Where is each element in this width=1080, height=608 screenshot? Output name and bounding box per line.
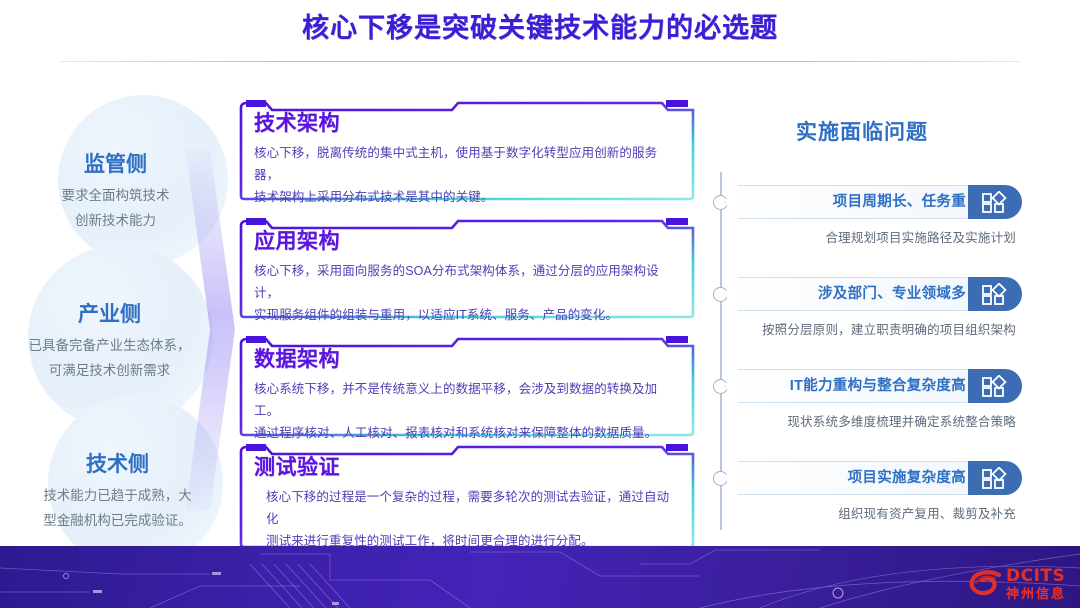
shapes-grid-icon <box>968 185 1022 219</box>
issue-subtext: 组织现有资产复用、裁剪及补充 <box>724 503 1016 522</box>
right-column: 实施面临问题 项目周期长、任务重 合理规划项目实施路径及实施计划 <box>702 100 1080 550</box>
side-item-desc-line2: 创新技术能力 <box>8 208 223 233</box>
side-item-industry: 产业侧 已具备完备产业生态体系， 可满足技术创新需求 <box>2 300 217 383</box>
issue-pill[interactable]: IT能力重构与整合复杂度高 <box>724 369 1022 403</box>
side-item-label: 产业侧 <box>2 300 217 330</box>
logo-en: DCITS <box>1006 568 1066 585</box>
side-item-desc-line1: 已具备完备产业生态体系， <box>2 333 217 358</box>
card-application-architecture: 应用架构 核心下移，采用面向服务的SOA分布式架构体系，通过分层的应用架构设计，… <box>238 216 696 320</box>
right-column-heading: 实施面临问题 <box>702 116 1022 146</box>
footer-band: DCITS 神州信息 <box>0 546 1080 608</box>
card-test-verification: 测试验证 核心下移的过程是一个复杂的过程，需要多轮次的测试去验证，通过自动化 测… <box>238 442 696 550</box>
side-item-desc-line2: 可满足技术创新需求 <box>2 358 217 383</box>
logo-text-block: DCITS 神州信息 <box>1006 568 1066 600</box>
issue-item-1[interactable]: 项目周期长、任务重 合理规划项目实施路径及实施计划 <box>724 185 1034 246</box>
card-text-line1: 核心下移，脱离传统的集中式主机，使用基于数字化转型应用创新的服务器， <box>254 142 680 186</box>
card-title: 技术架构 <box>254 110 680 138</box>
issue-label: 项目周期长、任务重 <box>833 185 966 219</box>
shapes-grid-icon <box>968 369 1022 403</box>
issue-label: IT能力重构与整合复杂度高 <box>790 369 966 403</box>
issue-label: 涉及部门、专业领域多 <box>818 277 966 311</box>
issue-subtext: 现状系统多维度梳理并确定系统整合策略 <box>724 411 1016 430</box>
company-logo: DCITS 神州信息 <box>969 568 1066 600</box>
issue-pill[interactable]: 涉及部门、专业领域多 <box>724 277 1022 311</box>
shapes-grid-icon <box>968 461 1022 495</box>
card-tech-architecture: 技术架构 核心下移，脱离传统的集中式主机，使用基于数字化转型应用创新的服务器， … <box>238 98 696 202</box>
issue-item-4[interactable]: 项目实施复杂度高 组织现有资产复用、裁剪及补充 <box>724 461 1034 522</box>
card-data-architecture: 数据架构 核心系统下移，并不是传统意义上的数据平移，会涉及到数据的转换及加工。 … <box>238 334 696 438</box>
shapes-grid-icon <box>968 277 1022 311</box>
page-title: 核心下移是突破关键技术能力的必选题 <box>0 8 1080 48</box>
title-divider <box>60 61 1020 62</box>
architecture-card-list: 技术架构 核心下移，脱离传统的集中式主机，使用基于数字化转型应用创新的服务器， … <box>238 98 700 548</box>
card-text-line1: 核心系统下移，并不是传统意义上的数据平移，会涉及到数据的转换及加工。 <box>254 378 680 422</box>
slide-root: 核心下移是突破关键技术能力的必选题 监管侧 要求全面构筑技术 创新技术能力 产业… <box>0 0 1080 608</box>
logo-cn: 神州信息 <box>1006 587 1066 600</box>
card-text-line2: 技术架构上采用分布式技术是其中的关键。 <box>254 186 680 208</box>
swirl-logo-icon <box>969 569 1003 599</box>
card-title: 测试验证 <box>254 454 680 482</box>
issue-item-2[interactable]: 涉及部门、专业领域多 按照分层原则，建立职责明确的项目组织架构 <box>724 277 1034 338</box>
circuit-decoration-icon <box>0 546 1080 608</box>
issue-pill[interactable]: 项目实施复杂度高 <box>724 461 1022 495</box>
card-title: 数据架构 <box>254 346 680 374</box>
card-text-line2: 实现服务组件的组装与重用，以适应IT系统、服务、产品的变化。 <box>254 304 680 326</box>
issue-pill[interactable]: 项目周期长、任务重 <box>724 185 1022 219</box>
card-text-line1: 核心下移，采用面向服务的SOA分布式架构体系，通过分层的应用架构设计， <box>254 260 680 304</box>
issue-label: 项目实施复杂度高 <box>848 461 966 495</box>
card-title: 应用架构 <box>254 228 680 256</box>
side-item-desc-line2: 型金融机构已完成验证。 <box>10 508 225 533</box>
card-text-line1: 核心下移的过程是一个复杂的过程，需要多轮次的测试去验证，通过自动化 <box>266 486 680 530</box>
issue-subtext: 合理规划项目实施路径及实施计划 <box>724 227 1016 246</box>
page-title-area: 核心下移是突破关键技术能力的必选题 <box>0 8 1080 48</box>
issue-item-3[interactable]: IT能力重构与整合复杂度高 现状系统多维度梳理并确定系统整合策略 <box>724 369 1034 430</box>
issue-subtext: 按照分层原则，建立职责明确的项目组织架构 <box>724 319 1016 338</box>
card-text-line2: 通过程序核对、人工核对、报表核对和系统核对来保障整体的数据质量。 <box>254 422 680 444</box>
